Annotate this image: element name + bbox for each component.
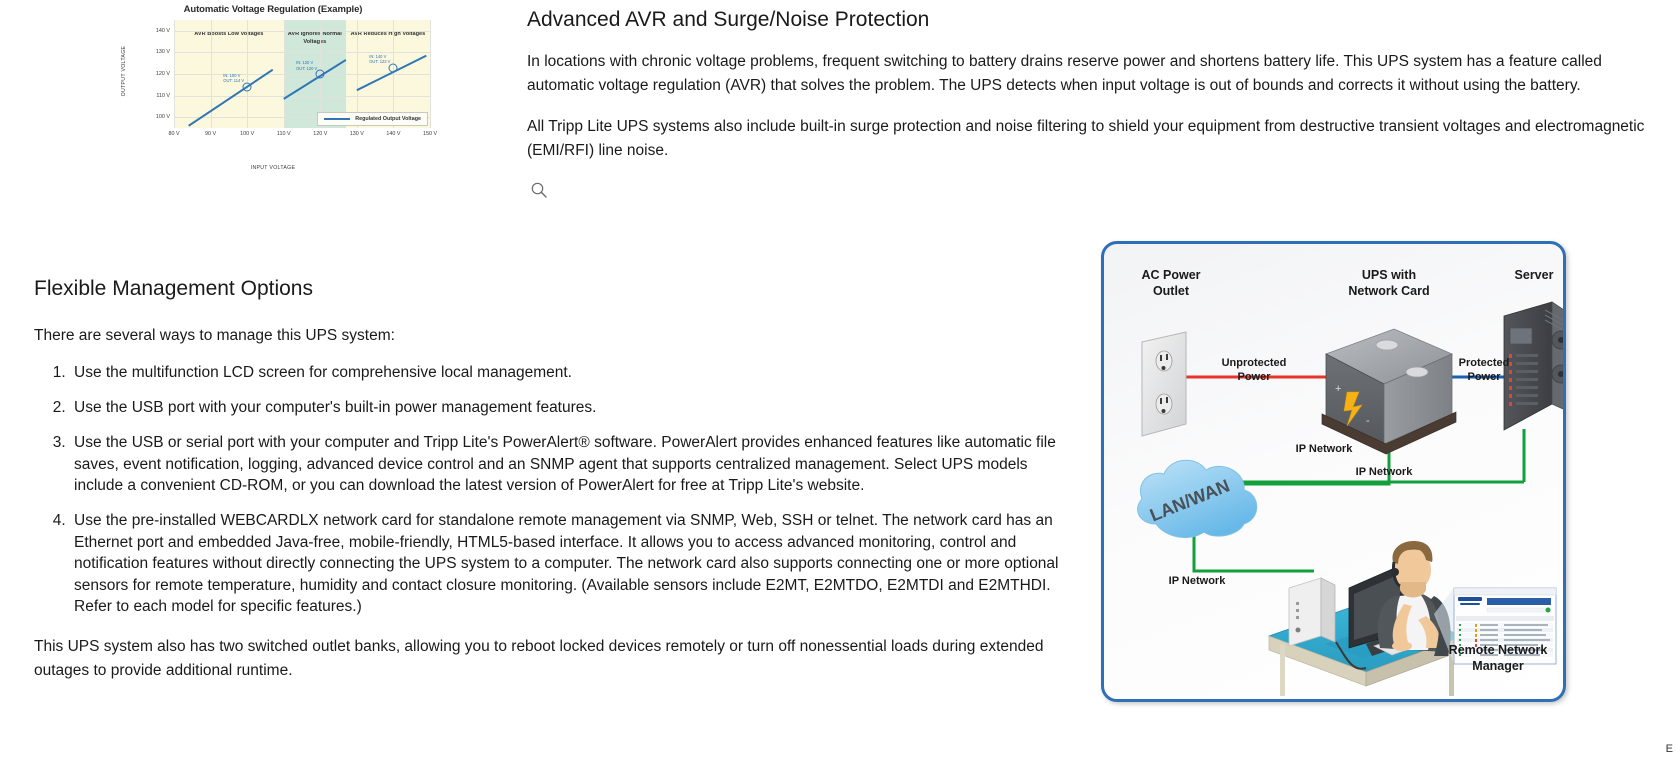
diagram-link-protected-power: Protected Power bbox=[1438, 356, 1530, 385]
avr-y-tick: 110 V bbox=[156, 93, 174, 99]
management-option-item: Use the multifunction LCD screen for com… bbox=[70, 362, 1079, 383]
ups-device-graphic: + - bbox=[1322, 329, 1456, 454]
avr-x-tick: 110 V bbox=[277, 128, 291, 137]
diagram-graphics: + - bbox=[1104, 244, 1563, 699]
lan-wan-cloud-graphic: LAN/WAN bbox=[1138, 460, 1257, 537]
avr-x-tick: 150 V bbox=[423, 128, 437, 137]
avr-y-tick: 130 V bbox=[156, 49, 174, 55]
svg-text:-: - bbox=[1366, 415, 1370, 427]
diagram-link-ip-network-server: IP Network bbox=[1339, 465, 1429, 479]
diagram-link-ip-network-ups: IP Network bbox=[1279, 442, 1369, 456]
avr-y-tick: 140 V bbox=[156, 28, 174, 34]
avr-data-point-label: IN: 120 VOUT: 120 V bbox=[296, 60, 317, 71]
avr-x-tick: 140 V bbox=[386, 128, 400, 137]
avr-data-point-label: IN: 100 VOUT: 114 V bbox=[223, 73, 244, 84]
diagram-label-server: Server bbox=[1494, 268, 1566, 284]
avr-chart-figure: Automatic Voltage Regulation (Example) O… bbox=[108, 2, 438, 177]
page-title: Advanced AVR and Surge/Noise Protection bbox=[527, 0, 1647, 33]
avr-y-axis-label: OUTPUT VOLTAGE bbox=[121, 39, 127, 103]
avr-plot-wrapper: OUTPUT VOLTAGE AVR Boosts Low VoltagesAV… bbox=[108, 20, 438, 150]
avr-paragraph-2: All Tripp Lite UPS systems also include … bbox=[527, 115, 1647, 163]
diagram-link-ip-network-workstation: IP Network bbox=[1152, 574, 1242, 588]
avr-x-tick: 130 V bbox=[350, 128, 364, 137]
avr-legend-swatch bbox=[324, 118, 350, 120]
avr-x-tick: 90 V bbox=[205, 128, 216, 137]
avr-x-tick: 100 V bbox=[240, 128, 254, 137]
avr-data-point-label: IN: 140 VOUT: 123 V bbox=[369, 53, 390, 64]
management-intro: There are several ways to manage this UP… bbox=[34, 324, 1079, 347]
management-option-item: Use the USB or serial port with your com… bbox=[70, 432, 1079, 496]
magnifier-icon[interactable] bbox=[529, 180, 549, 200]
avr-chart-title: Automatic Voltage Regulation (Example) bbox=[108, 2, 438, 15]
avr-paragraph-1: In locations with chronic voltage proble… bbox=[527, 50, 1647, 98]
avr-chart-legend: Regulated Output Voltage bbox=[317, 112, 428, 126]
avr-x-tick: 120 V bbox=[313, 128, 327, 137]
avr-plot-area: AVR Boosts Low VoltagesAVR Ignores Norma… bbox=[174, 20, 430, 128]
management-closing: This UPS system also has two switched ou… bbox=[34, 635, 1079, 682]
advanced-avr-section: Advanced AVR and Surge/Noise Protection … bbox=[527, 0, 1647, 163]
avr-legend-label: Regulated Output Voltage bbox=[355, 116, 421, 122]
management-option-item: Use the USB port with your computer's bu… bbox=[70, 397, 1079, 418]
management-option-item: Use the pre-installed WEBCARDLX network … bbox=[70, 510, 1079, 617]
avr-y-tick: 120 V bbox=[156, 71, 174, 77]
network-topology-diagram: + - bbox=[1101, 241, 1566, 702]
svg-text:+: + bbox=[1335, 383, 1341, 395]
diagram-label-ups: UPS with Network Card bbox=[1319, 268, 1459, 299]
management-options-list: Use the multifunction LCD screen for com… bbox=[34, 362, 1079, 618]
avr-x-axis-label: INPUT VOLTAGE bbox=[108, 165, 438, 171]
page-edge-marker: E bbox=[1666, 743, 1673, 755]
avr-gridline-vertical bbox=[430, 20, 431, 128]
diagram-link-unprotected-power: Unprotected Power bbox=[1199, 356, 1309, 385]
diagram-label-ac-outlet: AC Power Outlet bbox=[1116, 268, 1226, 299]
flexible-management-section: Flexible Management Options There are se… bbox=[34, 275, 1079, 682]
avr-y-tick: 100 V bbox=[156, 114, 174, 120]
ac-outlet-graphic bbox=[1142, 332, 1186, 436]
management-heading: Flexible Management Options bbox=[34, 275, 1079, 302]
avr-x-tick: 80 V bbox=[168, 128, 179, 137]
diagram-label-remote-network-manager: Remote Network Manager bbox=[1434, 643, 1562, 674]
